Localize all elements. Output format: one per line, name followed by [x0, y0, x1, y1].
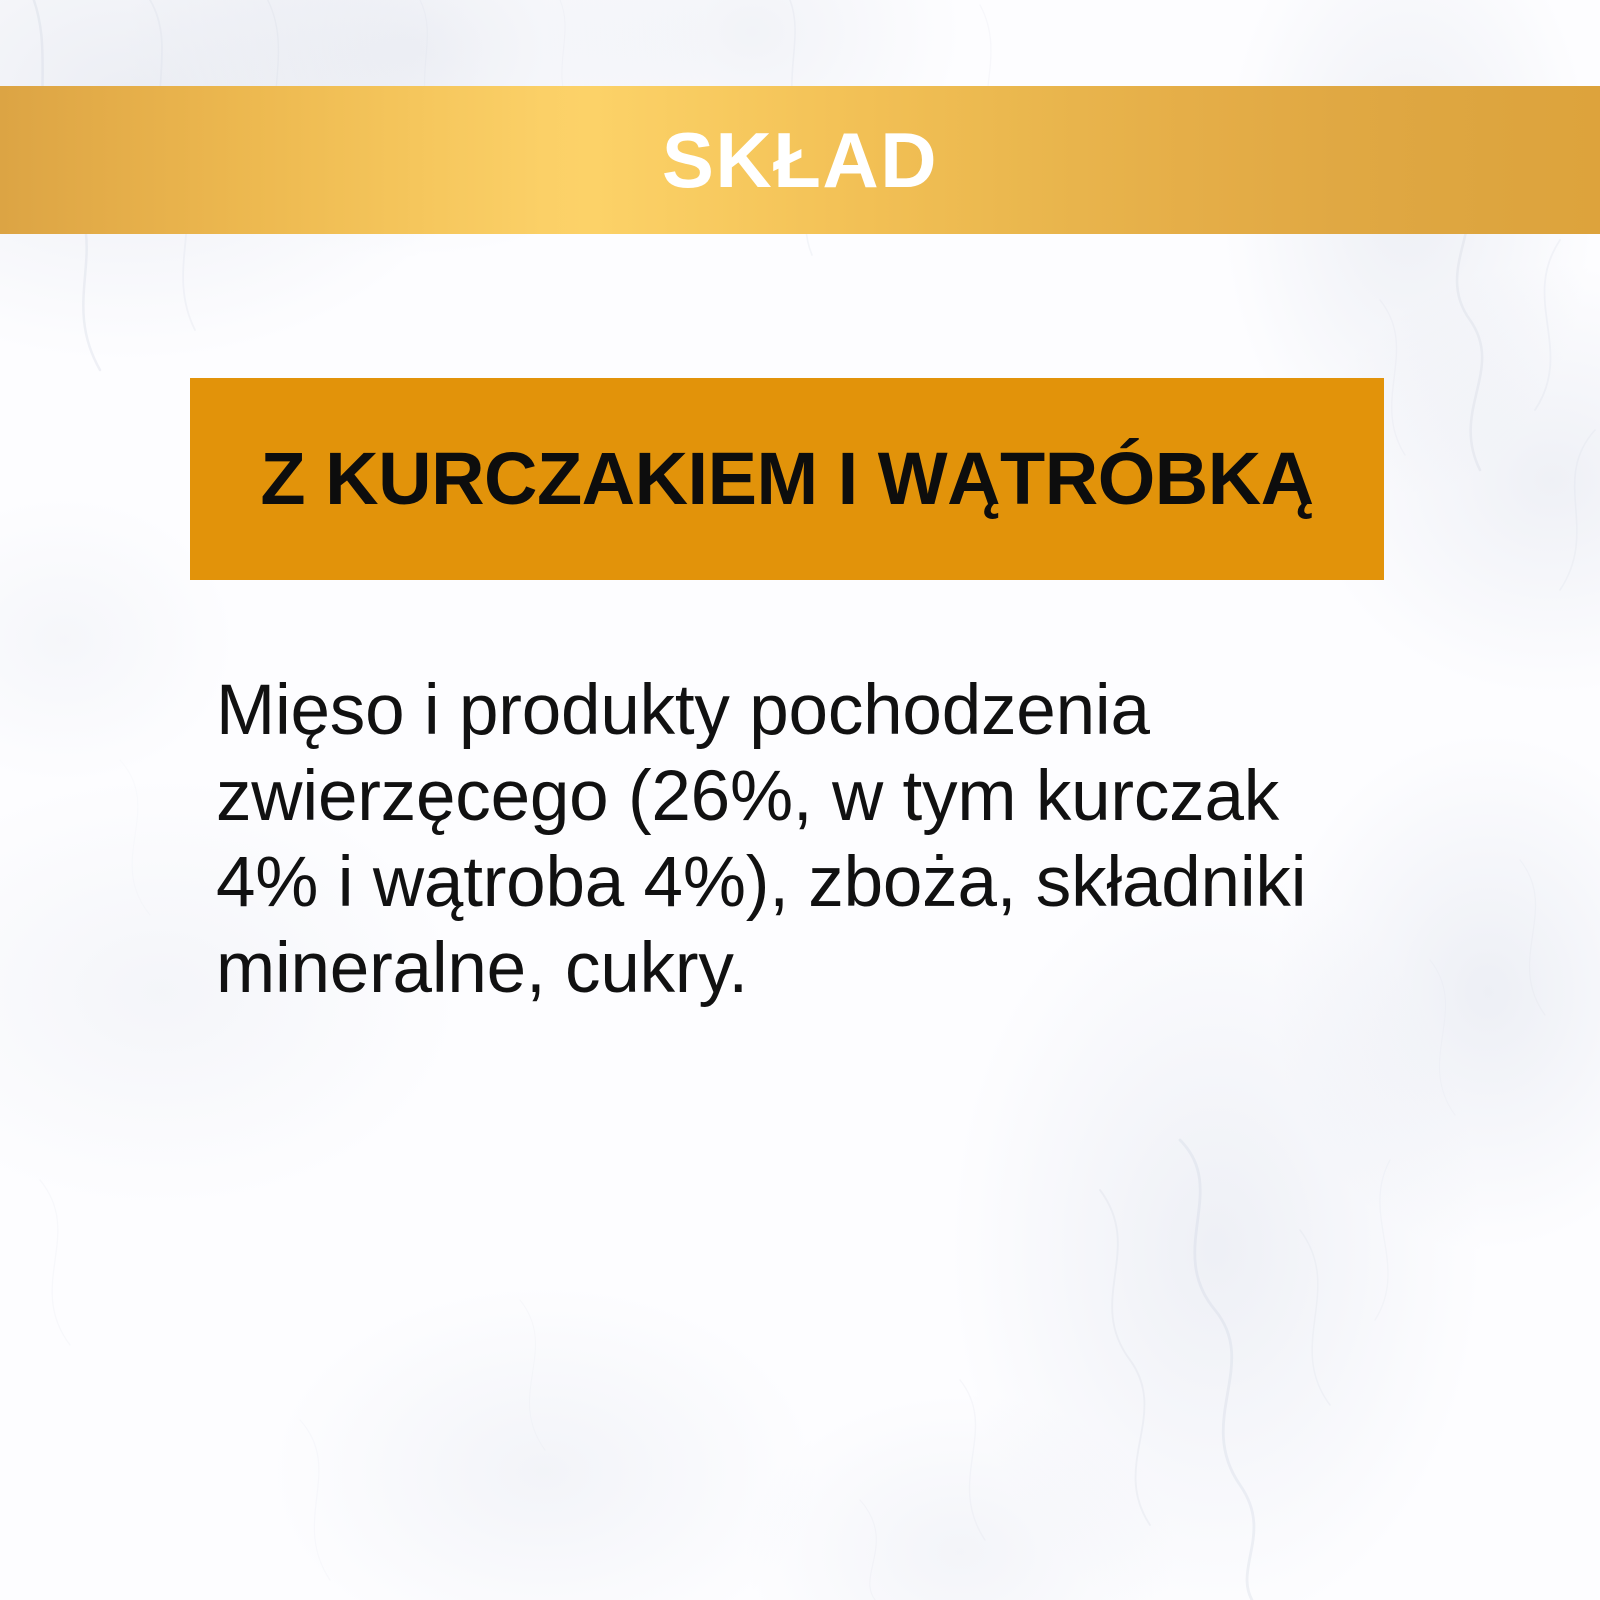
variant-name-box: Z KURCZAKIEM I WĄTRÓBKĄ: [190, 378, 1384, 580]
ingredients-text-block: Mięso i produkty pochodzenia zwierzęcego…: [216, 668, 1376, 1012]
page-title: SKŁAD: [662, 121, 938, 199]
ingredients-panel: SKŁAD Z KURCZAKIEM I WĄTRÓBKĄ Mięso i pr…: [0, 0, 1600, 1600]
section-header-band: SKŁAD: [0, 86, 1600, 234]
ingredients-paragraph: Mięso i produkty pochodzenia zwierzęcego…: [216, 668, 1376, 1012]
variant-name-label: Z KURCZAKIEM I WĄTRÓBKĄ: [260, 442, 1313, 516]
